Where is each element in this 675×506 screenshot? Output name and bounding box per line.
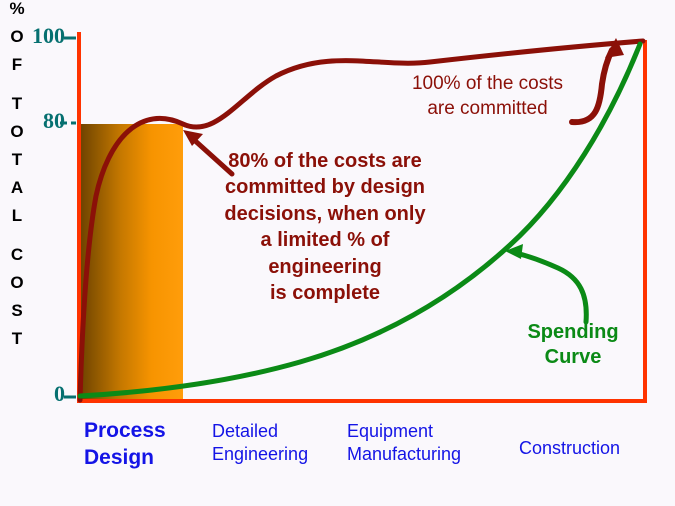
y-axis-title-char: S <box>11 302 22 319</box>
annotation-spending-curve-label: Spending Curve <box>513 320 633 370</box>
y-axis-title-char: C <box>11 246 23 263</box>
chart-canvas: % O F T O T A L C O S T 100 80 0 80% of … <box>0 0 675 506</box>
y-tick-label-80: 80 <box>10 108 65 134</box>
y-axis-title-char: L <box>12 207 22 224</box>
x-category-equipment-manufacturing: Equipment Manufacturing <box>347 420 507 467</box>
x-category-process-design: Process Design <box>84 418 194 472</box>
x-category-detailed-engineering: Detailed Engineering <box>212 420 352 467</box>
y-tick-label-100: 100 <box>10 23 65 49</box>
annotation-100-percent-committed: 100% of the costs are committed <box>380 72 595 121</box>
y-axis-title-char: F <box>12 56 22 73</box>
shaded-region-process-design <box>79 124 183 401</box>
x-category-construction: Construction <box>519 437 664 460</box>
annotation-arrow-spending-curve <box>505 244 586 322</box>
annotation-80-percent-committed: 80% of the costs are committed by design… <box>195 148 455 306</box>
y-axis-title-char: T <box>12 330 22 347</box>
y-axis-title-char: A <box>11 179 23 196</box>
y-axis-title-char: O <box>10 274 23 291</box>
y-axis-title-char: % <box>9 0 24 17</box>
y-axis-title: % O F T O T A L C O S T <box>2 0 32 506</box>
y-tick-label-0: 0 <box>10 381 65 407</box>
y-axis-title-char: T <box>12 151 22 168</box>
